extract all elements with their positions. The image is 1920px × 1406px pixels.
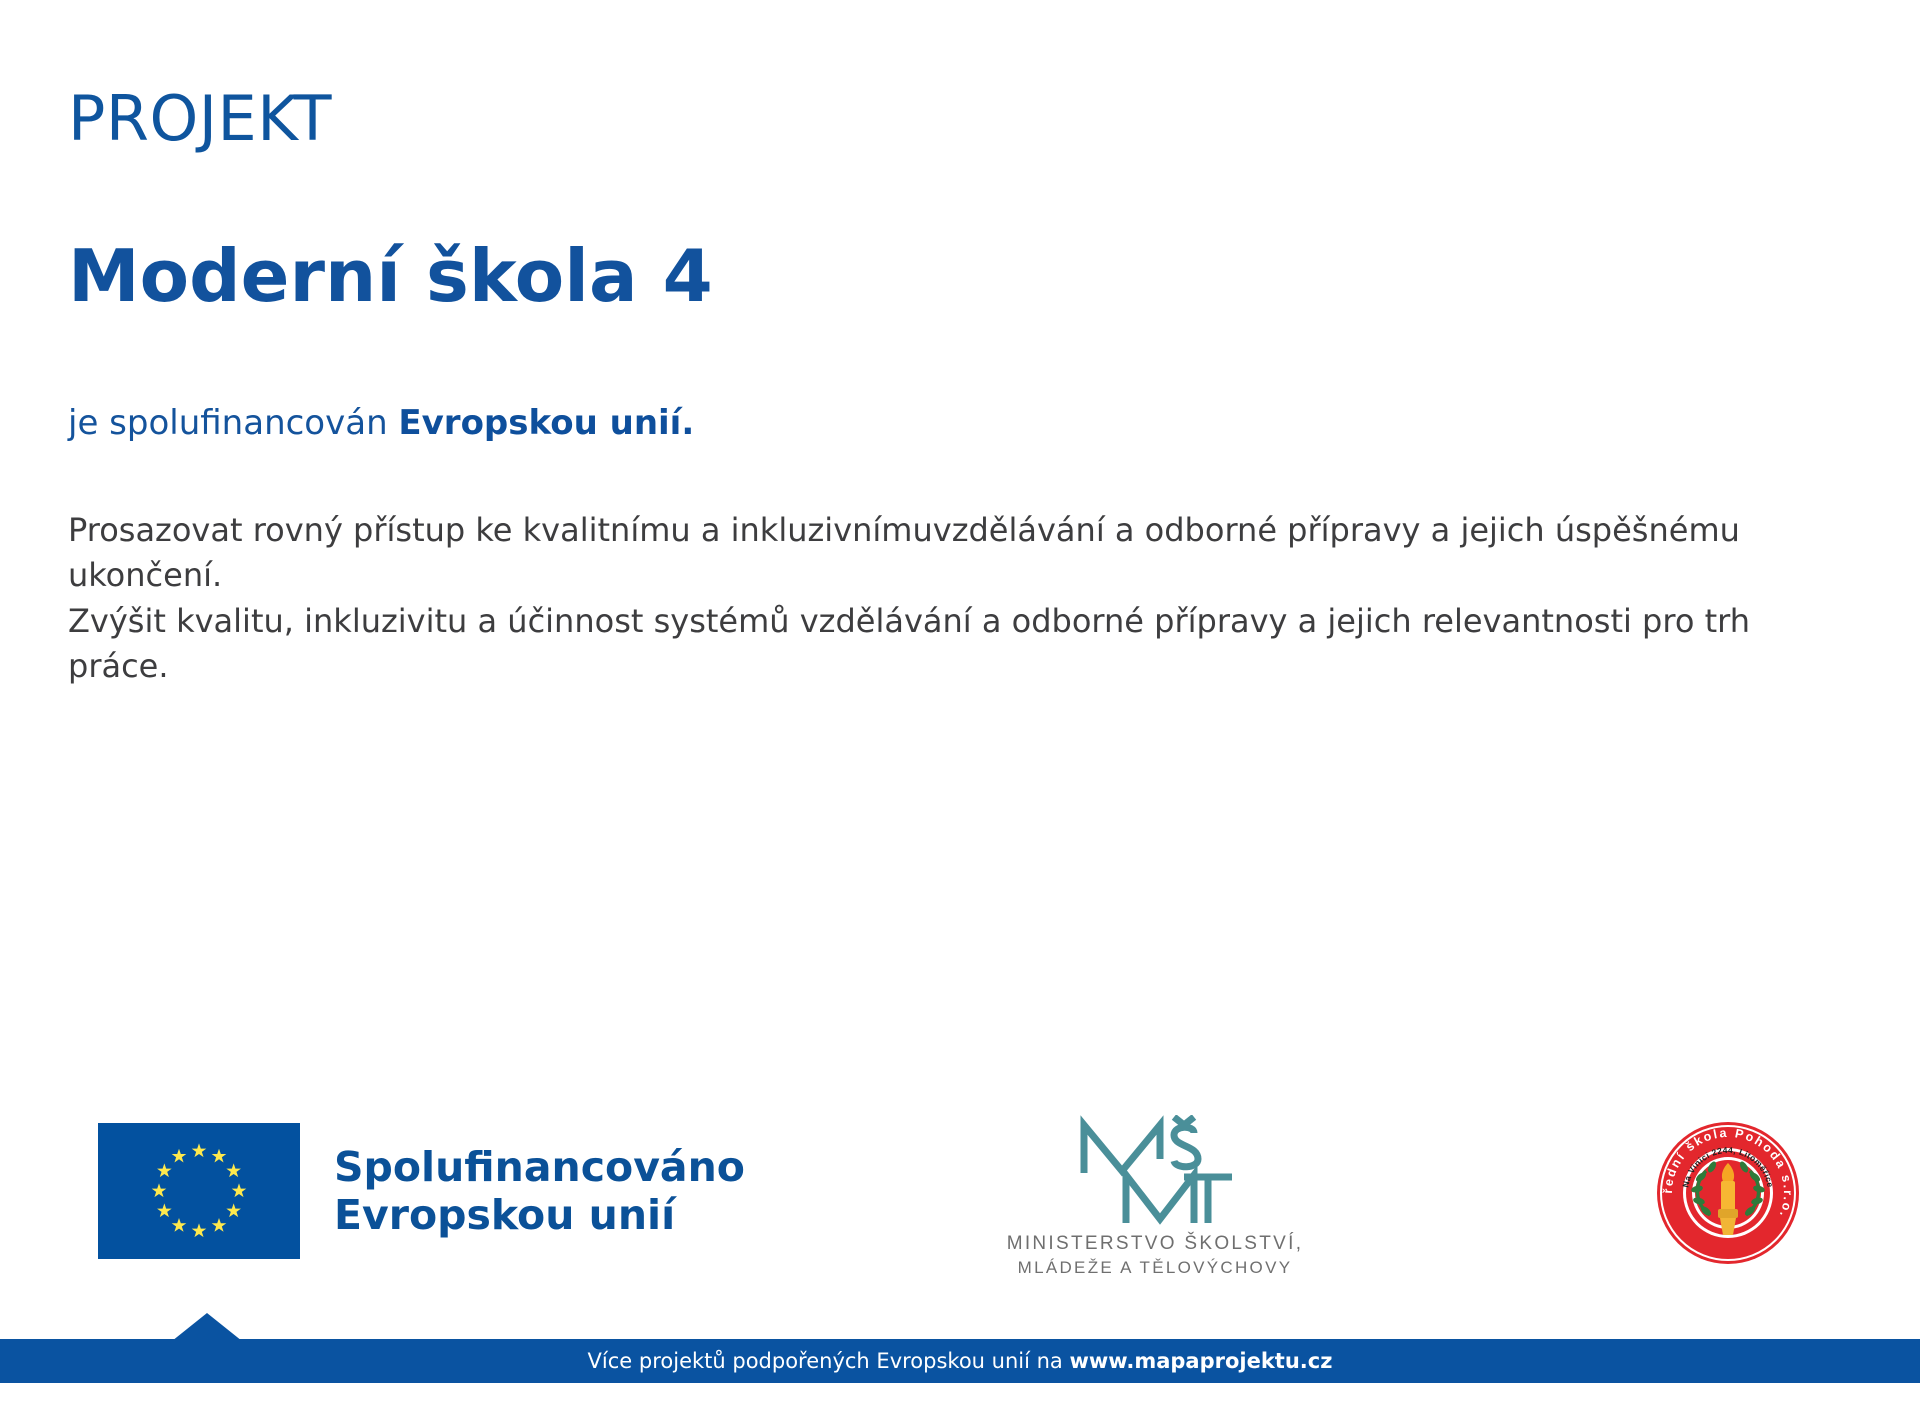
subtitle-prefix: je spolufinancován — [68, 403, 398, 443]
footer-url-link[interactable]: www.mapaprojektu.cz — [1069, 1349, 1332, 1373]
page-kicker: PROJEKT — [68, 88, 332, 150]
page-subtitle: je spolufinancován Evropskou unií. — [68, 403, 694, 444]
body-copy: Prosazovat rovný přístup ke kvalitnímu a… — [68, 508, 1828, 690]
eu-wordmark-line-1: Spolufinancováno — [334, 1143, 745, 1191]
footer-text: Více projektů podpořených Evropskou unií… — [588, 1349, 1333, 1373]
triangle-up-icon — [172, 1313, 242, 1341]
subtitle-emphasis: Evropskou unií. — [398, 403, 694, 443]
msmt-caption-line-1: MINISTERSTVO ŠKOLSTVÍ, — [990, 1233, 1320, 1255]
footer-bar: Více projektů podpořených Evropskou unií… — [0, 1339, 1920, 1383]
msmt-caption-line-2: MLÁDEŽE A TĚLOVÝCHOVY — [990, 1258, 1320, 1278]
school-seal-icon: Střední škola Pohoda s.r.o. Na Vinici 22… — [1654, 1119, 1802, 1267]
eu-wordmark-line-2: Evropskou unií — [334, 1191, 745, 1239]
eu-cofunding-logo: Spolufinancováno Evropskou unií — [98, 1123, 745, 1259]
body-paragraph-2: Zvýšit kvalitu, inkluzivitu a účinnost s… — [68, 599, 1828, 690]
msmt-monogram-icon — [1070, 1115, 1240, 1227]
footer-text-prefix: Více projektů podpořených Evropskou unií… — [588, 1349, 1070, 1373]
page-title: Moderní škola 4 — [68, 240, 713, 312]
msmt-logo: MINISTERSTVO ŠKOLSTVÍ, MLÁDEŽE A TĚLOVÝC… — [990, 1115, 1320, 1278]
project-poster: PROJEKT Moderní škola 4 je spolufinancov… — [0, 0, 1920, 1406]
eu-flag-icon — [98, 1123, 300, 1259]
logo-strip: Spolufinancováno Evropskou unií — [0, 1105, 1920, 1305]
eu-wordmark: Spolufinancováno Evropskou unií — [334, 1143, 745, 1240]
body-paragraph-1: Prosazovat rovný přístup ke kvalitnímu a… — [68, 508, 1828, 599]
